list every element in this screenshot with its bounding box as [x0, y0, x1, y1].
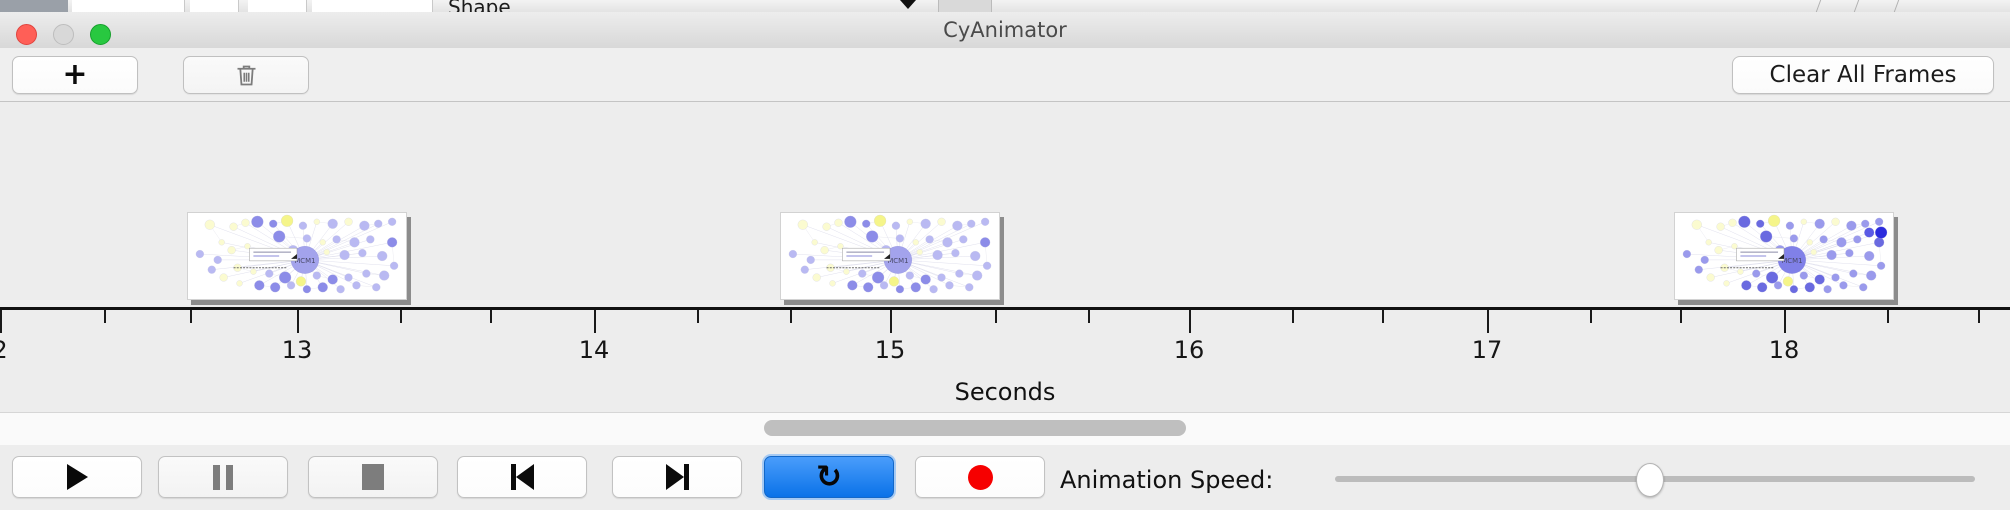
axis-tick — [697, 310, 699, 323]
background-chunk — [312, 0, 433, 12]
cyanimator-window: Shape CyAnimator + Clear All Frames — [0, 0, 2010, 510]
axis-tick — [400, 310, 402, 323]
axis-tick-label: 18 — [1769, 336, 1800, 364]
axis-tick — [1784, 310, 1786, 333]
axis-tick-label: 17 — [1472, 336, 1503, 364]
pause-button[interactable] — [158, 456, 288, 498]
axis-tick-label: 14 — [579, 336, 610, 364]
background-chunk — [190, 0, 239, 12]
svg-text:MCM1: MCM1 — [294, 257, 315, 265]
axis-tick — [297, 310, 299, 333]
next-button[interactable] — [612, 456, 742, 498]
trash-icon — [233, 62, 260, 89]
window-title: CyAnimator — [0, 12, 2010, 48]
axis-tick — [1189, 310, 1191, 333]
axis-tick — [190, 310, 192, 323]
axis-tick — [594, 310, 596, 333]
axis-tick — [790, 310, 792, 323]
play-button[interactable] — [12, 456, 142, 498]
stop-button[interactable] — [308, 456, 438, 498]
axis-tick-label: 16 — [1174, 336, 1205, 364]
axis-tick — [995, 310, 997, 323]
axis-tick — [0, 310, 2, 333]
axis-tick — [1590, 310, 1592, 323]
background-chunk — [248, 0, 307, 12]
axis-tick — [890, 310, 892, 333]
axis-tick — [1680, 310, 1682, 323]
scrollbar-thumb[interactable] — [764, 420, 1186, 436]
timeline-frame[interactable]: MCM1 — [187, 212, 407, 300]
skip-back-icon — [511, 464, 534, 490]
loop-button[interactable]: ↻ — [764, 456, 894, 498]
axis-tick — [1487, 310, 1489, 333]
play-icon — [67, 464, 88, 490]
animation-speed-label: Animation Speed: — [1060, 466, 1273, 494]
stop-icon — [362, 464, 384, 490]
frame-thumbnail[interactable]: MCM1 — [780, 212, 1000, 300]
axis-tick — [104, 310, 106, 323]
animation-speed-slider-thumb[interactable] — [1636, 463, 1664, 497]
toolbar: + Clear All Frames — [0, 48, 2010, 102]
timeline-axis — [0, 307, 2010, 310]
axis-tick — [1887, 310, 1889, 323]
delete-frame-button[interactable] — [183, 56, 309, 94]
clear-all-frames-label: Clear All Frames — [1770, 62, 1957, 88]
axis-tick — [1292, 310, 1294, 323]
axis-tick-label: 2 — [0, 336, 8, 364]
record-icon — [968, 465, 993, 490]
horizontal-scrollbar[interactable] — [0, 412, 2010, 446]
background-window-sidebar — [0, 0, 68, 12]
frame-thumbnail[interactable]: MCM1 — [187, 212, 407, 300]
record-button[interactable] — [915, 456, 1045, 498]
background-tab — [938, 0, 992, 12]
background-chunk — [72, 0, 185, 12]
svg-text:MCM1: MCM1 — [1781, 257, 1802, 265]
axis-tick-label: 15 — [875, 336, 906, 364]
playback-bar: ↻ Animation Speed: — [0, 445, 2010, 510]
previous-button[interactable] — [457, 456, 587, 498]
title-bar: CyAnimator — [0, 12, 2010, 49]
pause-icon — [213, 465, 233, 490]
background-caret-icon — [900, 0, 916, 9]
timeline-frame[interactable]: MCM1 — [1674, 212, 1894, 300]
background-divider — [1894, 0, 1899, 12]
axis-tick — [1088, 310, 1090, 323]
axis-tick — [1382, 310, 1384, 323]
frame-thumbnail[interactable]: MCM1 — [1674, 212, 1894, 300]
plus-icon: + — [62, 60, 87, 90]
background-divider — [1816, 0, 1821, 12]
axis-tick — [1978, 310, 1980, 323]
loop-icon: ↻ — [816, 462, 842, 493]
skip-forward-icon — [666, 464, 689, 490]
clear-all-frames-button[interactable]: Clear All Frames — [1732, 56, 1994, 94]
axis-tick-label: 13 — [282, 336, 313, 364]
background-divider — [1854, 0, 1859, 12]
add-frame-button[interactable]: + — [12, 56, 138, 94]
axis-tick — [490, 310, 492, 323]
axis-title: Seconds — [0, 378, 2010, 406]
timeline-frame[interactable]: MCM1 — [780, 212, 1000, 300]
animation-speed-slider[interactable] — [1335, 476, 1975, 482]
svg-text:MCM1: MCM1 — [887, 257, 908, 265]
